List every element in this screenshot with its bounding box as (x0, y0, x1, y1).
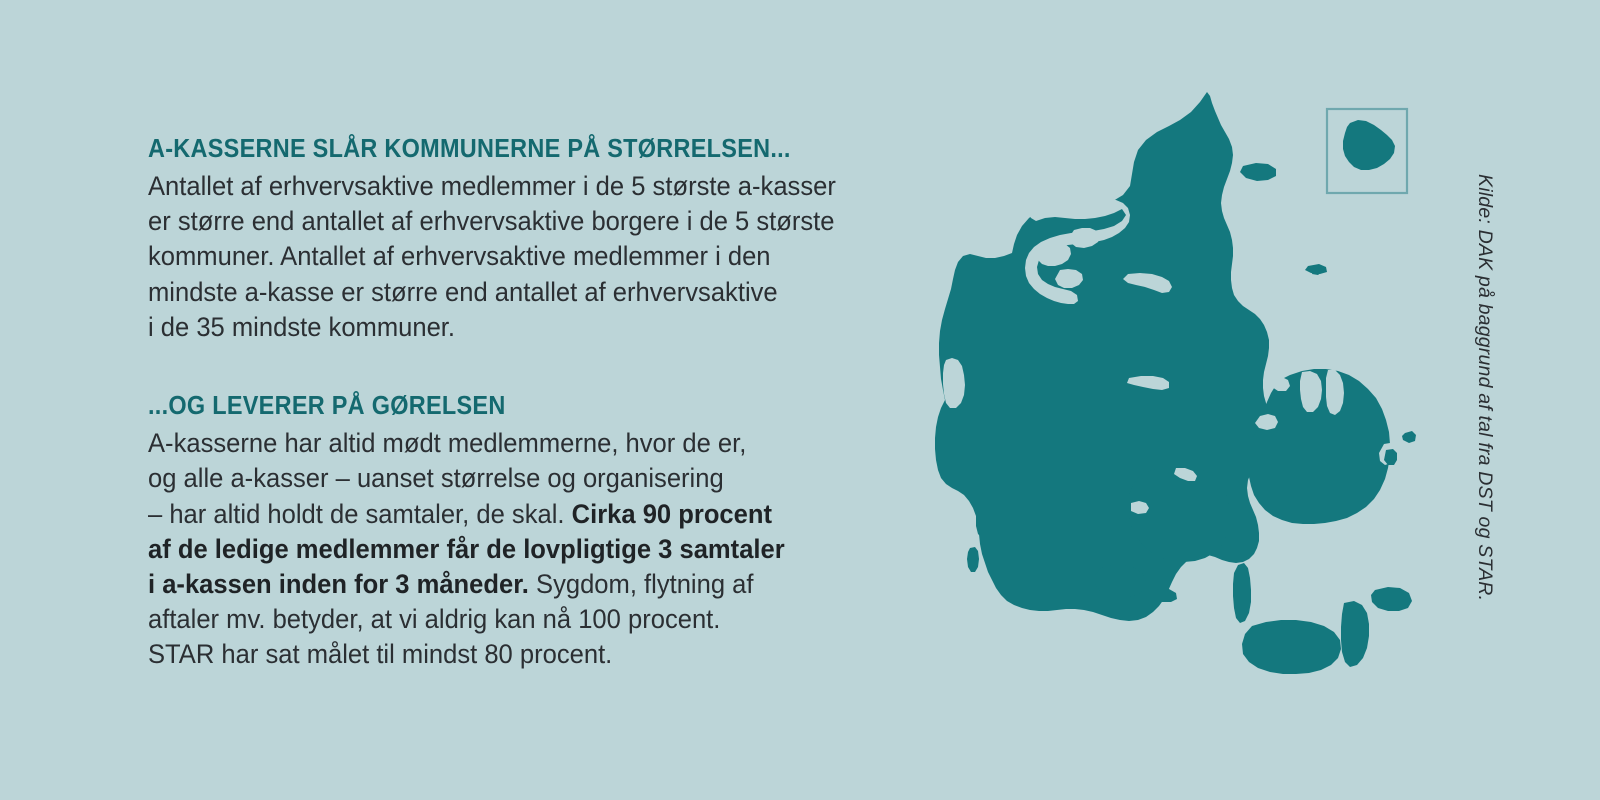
island-roemoe (967, 547, 979, 572)
text-block-delivery: ...OG LEVERER PÅ GØRELSEN A-kasserne har… (148, 391, 893, 673)
source-credit: Kilde: DAK på baggrund af tal fra DST og… (1473, 174, 1496, 601)
island-lolland (1242, 620, 1341, 674)
text-column: A-KASSERNE SLÅR KOMMUNERNE PÅ STØRRELSEN… (148, 134, 893, 673)
paragraph-line: i de 35 mindste kommuner. (148, 310, 867, 345)
island-bornholm (1343, 120, 1395, 170)
island-langeland (1233, 563, 1251, 623)
emphasis-cirka-90-procent: Cirka 90 procent (572, 499, 772, 529)
paragraph-line: og alle a-kasser – uanset størrelse og o… (148, 461, 867, 496)
island-moen (1371, 587, 1412, 611)
paragraph-text: – har altid holdt de samtaler, de skal. (148, 499, 572, 529)
denmark-map (888, 78, 1458, 708)
paragraph-line: mindste a-kasse er større end antallet a… (148, 275, 867, 310)
island-ven (1402, 431, 1416, 443)
paragraph-line: i a-kassen inden for 3 måneder. Sygdom, … (148, 567, 867, 602)
infographic-canvas: A-KASSERNE SLÅR KOMMUNERNE PÅ STØRRELSEN… (0, 0, 1600, 800)
emphasis-line-3: i a-kassen inden for 3 måneder. (148, 569, 529, 599)
paragraph-line: A-kasserne har altid mødt medlemmerne, h… (148, 426, 867, 461)
heading-a-kasserne-slaar-kommunerne: A-KASSERNE SLÅR KOMMUNERNE PÅ STØRRELSEN… (148, 134, 833, 164)
paragraph-line: – har altid holdt de samtaler, de skal. … (148, 497, 867, 532)
island-samsoe (1186, 406, 1201, 440)
jutland-landmass (935, 92, 1276, 621)
paragraph-line: STAR har sat målet til mindst 80 procent… (148, 637, 867, 672)
paragraph-line: aftaler mv. betyder, at vi aldrig kan nå… (148, 602, 867, 637)
paragraph-size: Antallet af erhvervsaktive medlemmer i d… (148, 169, 867, 345)
paragraph-delivery: A-kasserne har altid mødt medlemmerne, h… (148, 426, 867, 672)
emphasis-line-2: af de ledige medlemmer får de lovpligtig… (148, 534, 785, 564)
text-block-size: A-KASSERNE SLÅR KOMMUNERNE PÅ STØRRELSEN… (148, 134, 893, 345)
paragraph-line: af de ledige medlemmer får de lovpligtig… (148, 532, 867, 567)
paragraph-line: Antallet af erhvervsaktive medlemmer i d… (148, 169, 867, 204)
heading-og-leverer-paa-goerelsen: ...OG LEVERER PÅ GØRELSEN (148, 391, 833, 421)
paragraph-line: kommuner. Antallet af erhvervsaktive med… (148, 239, 867, 274)
island-laesoe (1240, 163, 1276, 181)
island-falster (1341, 601, 1369, 667)
paragraph-text: Sygdom, flytning af (529, 569, 754, 599)
map-land-shapes (935, 92, 1416, 674)
paragraph-line: er større end antallet af erhvervsaktive… (148, 204, 867, 239)
